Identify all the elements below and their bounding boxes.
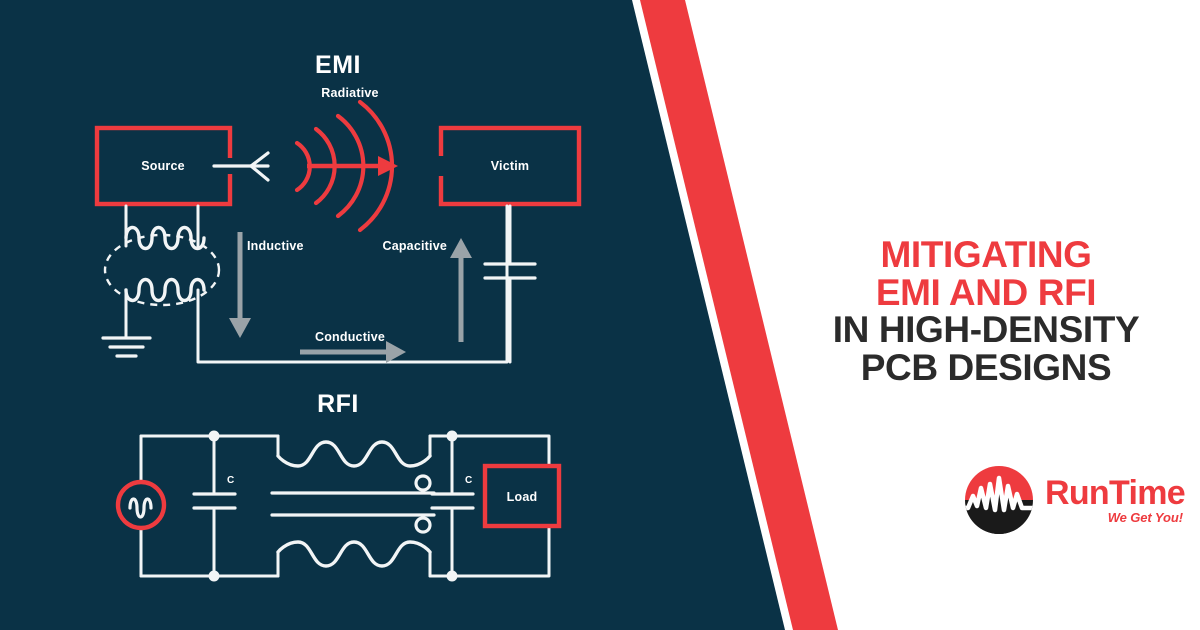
title-line-3: IN HIGH-DENSITY	[790, 311, 1182, 349]
diagram-panel: EMI Source	[0, 0, 640, 630]
capacitive-label: Capacitive	[382, 239, 447, 253]
inductive-coupling-coils-icon	[105, 206, 219, 336]
capacitor-icon	[485, 206, 535, 362]
antenna-icon	[214, 153, 268, 180]
load-label: Load	[507, 490, 538, 504]
logo-text: RunTime We Get You!	[1045, 474, 1185, 526]
rfi-circuit: C	[118, 431, 559, 582]
capacitor-right-icon: C	[432, 431, 473, 582]
radiative-label: Radiative	[321, 86, 378, 100]
waveform-circle-icon	[963, 464, 1035, 536]
ac-source-icon	[118, 482, 164, 528]
runtime-logo[interactable]: RunTime We Get You!	[963, 459, 1173, 541]
title-line-4: PCB DESIGNS	[790, 349, 1182, 387]
common-mode-choke-icon	[272, 436, 470, 576]
victim-block: Victim	[436, 128, 579, 204]
inductive-label: Inductive	[247, 239, 304, 253]
terminal-ring-icon	[416, 476, 430, 490]
title-line-1: MITIGATING	[790, 236, 1182, 274]
terminal-ring-icon	[416, 518, 430, 532]
victim-label: Victim	[491, 159, 530, 173]
capacitor-right-label: C	[465, 475, 472, 486]
load-box-icon: Load	[485, 466, 559, 526]
terminal-dot-icon	[209, 571, 220, 582]
emi-heading: EMI	[315, 51, 361, 79]
source-label: Source	[141, 159, 185, 173]
title-line-2: EMI AND RFI	[790, 274, 1182, 312]
radiative-arrow-icon	[307, 156, 398, 176]
arrow-up-capacitive-icon	[450, 238, 472, 342]
logo-tagline: We Get You!	[1045, 510, 1185, 526]
ground-symbol-icon	[103, 336, 150, 356]
title-block: MITIGATING EMI AND RFI IN HIGH-DENSITY P…	[790, 236, 1182, 386]
conductive-label: Conductive	[315, 330, 385, 344]
victim-box-entry-gap	[436, 156, 446, 176]
rfi-heading: RFI	[317, 390, 359, 418]
capacitor-left-icon: C	[194, 431, 235, 582]
logo-wordmark: RunTime	[1045, 476, 1185, 510]
arrow-right-conductive-icon	[300, 341, 406, 363]
banner-graphic: EMI Source	[0, 0, 1200, 630]
capacitor-left-label: C	[227, 475, 234, 486]
coupling-field-ellipse	[105, 235, 219, 305]
